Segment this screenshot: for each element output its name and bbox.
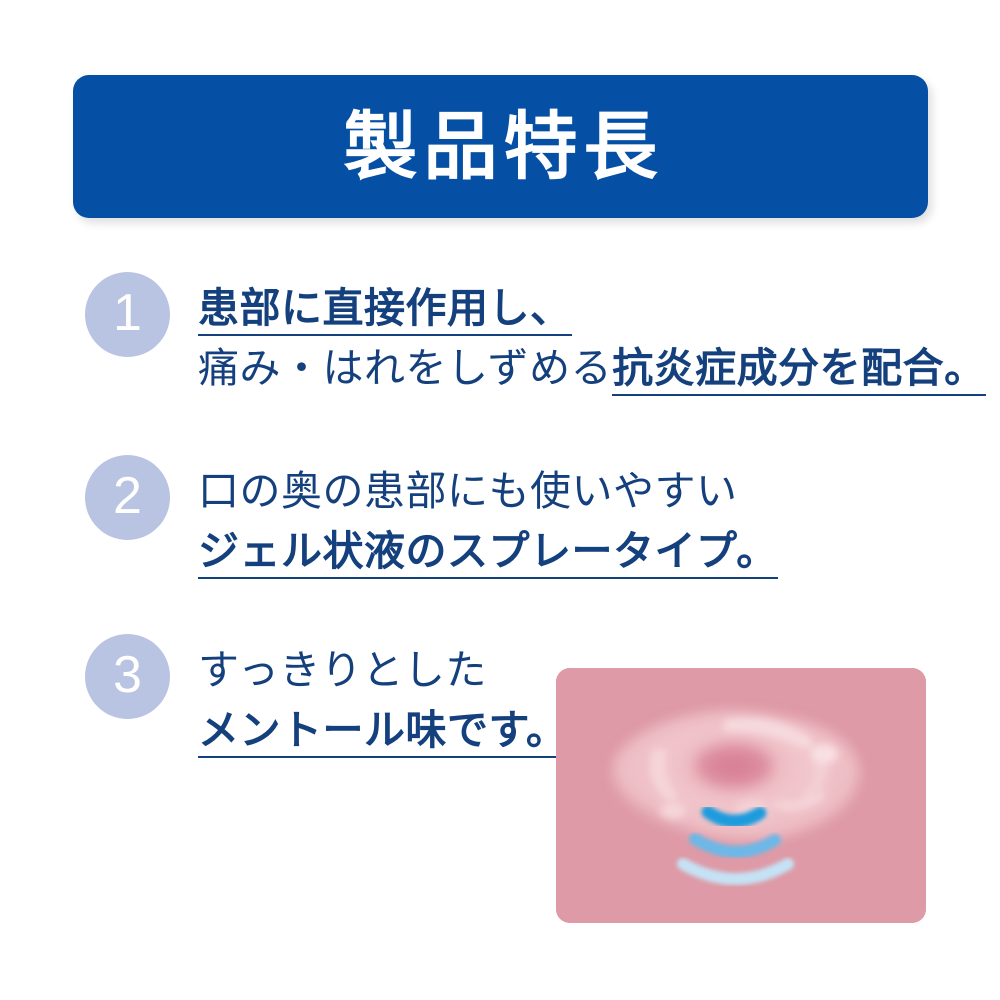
feature-plain-text: 痛み・はれをしずめる	[198, 345, 612, 391]
mouth-sore-spray-illustration	[556, 668, 926, 923]
feature-line: 口の奥の患部にも使いやすい	[198, 461, 778, 521]
feature-emphasis-text: 患部に直接作用し、	[198, 285, 572, 336]
feature-line: すっきりとした	[198, 640, 567, 700]
feature-text-1: 患部に直接作用し、 痛み・はれをしずめる抗炎症成分を配合。	[198, 272, 986, 398]
feature-plain-text: 口の奥の患部にも使いやすい	[198, 468, 738, 514]
feature-emphasis-text: ジェル状液のスプレータイプ。	[198, 528, 778, 579]
feature-plain-text: すっきりとした	[198, 647, 487, 693]
feature-line: メントール味です。	[198, 700, 567, 760]
feature-item-2: 2 口の奥の患部にも使いやすい ジェル状液のスプレータイプ。	[85, 455, 778, 581]
feature-number-badge-1: 1	[85, 272, 170, 357]
feature-item-3: 3 すっきりとした メントール味です。	[85, 634, 567, 760]
feature-line: 痛み・はれをしずめる抗炎症成分を配合。	[198, 338, 986, 398]
feature-line: 患部に直接作用し、	[198, 278, 986, 338]
feature-text-3: すっきりとした メントール味です。	[198, 634, 567, 760]
feature-line: ジェル状液のスプレータイプ。	[198, 521, 778, 581]
feature-emphasis-text: メントール味です。	[198, 707, 567, 758]
feature-emphasis-text: 抗炎症成分を配合。	[612, 345, 986, 396]
feature-number-badge-2: 2	[85, 455, 170, 540]
feature-text-2: 口の奥の患部にも使いやすい ジェル状液のスプレータイプ。	[198, 455, 778, 581]
feature-item-1: 1 患部に直接作用し、 痛み・はれをしずめる抗炎症成分を配合。	[85, 272, 986, 398]
feature-number-badge-3: 3	[85, 634, 170, 719]
